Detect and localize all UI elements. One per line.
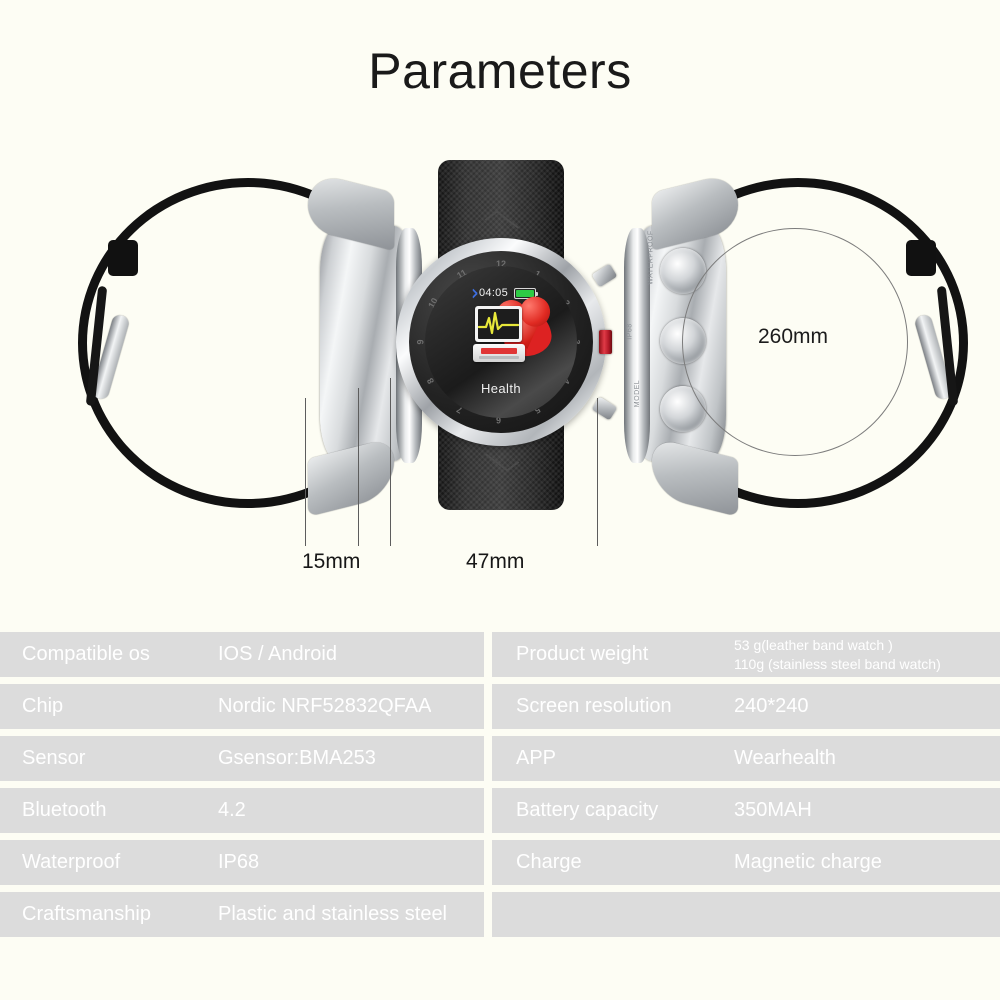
spec-key: Sensor xyxy=(0,747,218,770)
spec-key: Craftsmanship xyxy=(0,903,218,926)
watch-bezel: 121234567891011 04:05 xyxy=(396,238,606,446)
strap-keeper-left xyxy=(108,240,138,276)
watch-front-view: 121234567891011 04:05 xyxy=(396,160,606,510)
watch-pusher-bottom[interactable] xyxy=(592,397,618,421)
bluetooth-icon xyxy=(466,288,473,299)
case-engraving-1: WATERPROOF xyxy=(648,230,655,284)
spec-key: Bluetooth xyxy=(0,799,218,822)
product-spec-page: Parameters WATERPROOF IP xyxy=(0,0,1000,1000)
leader-line-47mm-right xyxy=(597,398,598,546)
bezel-number: 9 xyxy=(416,339,426,344)
table-row: ChargeMagnetic charge xyxy=(492,840,1000,885)
leader-line-15mm-right xyxy=(358,388,359,546)
ecg-waveform-icon xyxy=(478,309,519,339)
table-row: APPWearhealth xyxy=(492,736,1000,781)
table-row: SensorGsensor:BMA253 xyxy=(0,736,484,781)
watch-side-view-left xyxy=(78,178,418,508)
table-row: Battery capacity350MAH xyxy=(492,788,1000,833)
spec-key: APP xyxy=(492,747,734,770)
watch-app-label: Health xyxy=(425,381,577,396)
ecg-monitor-icon xyxy=(473,306,525,362)
label-15mm: 15mm xyxy=(302,550,360,574)
case-engraving-3: MODEL xyxy=(634,380,641,407)
spec-key: Waterproof xyxy=(0,851,218,874)
clock-time: 04:05 xyxy=(479,287,508,299)
table-row: CraftsmanshipPlastic and stainless steel xyxy=(0,892,484,937)
label-47mm: 47mm xyxy=(466,550,524,574)
table-row: WaterproofIP68 xyxy=(0,840,484,885)
watch-case-edge-right xyxy=(624,228,650,463)
spec-key: Charge xyxy=(492,851,734,874)
watch-crown[interactable] xyxy=(599,330,612,354)
spec-value: 4.2 xyxy=(218,799,246,822)
label-260mm: 260mm xyxy=(758,325,828,349)
leader-line-15mm-left xyxy=(305,398,306,546)
spec-value-line-2: 110g (stainless steel band watch) xyxy=(734,655,941,673)
case-engraving-2: IP68 xyxy=(627,323,634,339)
watch-display[interactable]: 04:05 xyxy=(425,266,577,418)
table-row-empty xyxy=(492,892,1000,937)
spec-value: Wearhealth xyxy=(734,747,836,770)
watch-status-bar: 04:05 xyxy=(425,286,577,300)
table-row: Compatible osIOS / Android xyxy=(0,632,484,677)
spec-key: Product weight xyxy=(492,643,734,666)
table-row: Product weight53 g(leather band watch )1… xyxy=(492,632,1000,677)
spec-key: Compatible os xyxy=(0,643,218,666)
spec-key: Screen resolution xyxy=(492,695,734,718)
table-row: Screen resolution240*240 xyxy=(492,684,1000,729)
strap-chevron-bottom-icon xyxy=(485,445,520,471)
spec-value: Gsensor:BMA253 xyxy=(218,747,376,770)
spec-key: Battery capacity xyxy=(492,799,734,822)
spec-value: 53 g(leather band watch )110g (stainless… xyxy=(734,636,941,673)
spec-value: Nordic NRF52832QFAA xyxy=(218,695,431,718)
leader-line-47mm-left xyxy=(390,378,391,546)
table-row: ChipNordic NRF52832QFAA xyxy=(0,684,484,729)
spec-value: IP68 xyxy=(218,851,259,874)
table-row: Bluetooth4.2 xyxy=(0,788,484,833)
spec-value: Plastic and stainless steel xyxy=(218,903,447,926)
strap-keeper-right xyxy=(906,240,936,276)
spec-value: 350MAH xyxy=(734,799,812,822)
product-images: WATERPROOF IP68 MODEL 260mm xyxy=(0,0,1000,620)
spec-key: Chip xyxy=(0,695,218,718)
specifications: Compatible osIOS / AndroidChipNordic NRF… xyxy=(0,632,1000,944)
spec-value: Magnetic charge xyxy=(734,851,882,874)
strap-chevron-top-icon xyxy=(485,210,520,236)
spec-value-line-1: 53 g(leather band watch ) xyxy=(734,636,941,654)
watch-pusher-top[interactable] xyxy=(592,264,618,288)
spec-value: IOS / Android xyxy=(218,643,337,666)
spec-value: 240*240 xyxy=(734,695,809,718)
